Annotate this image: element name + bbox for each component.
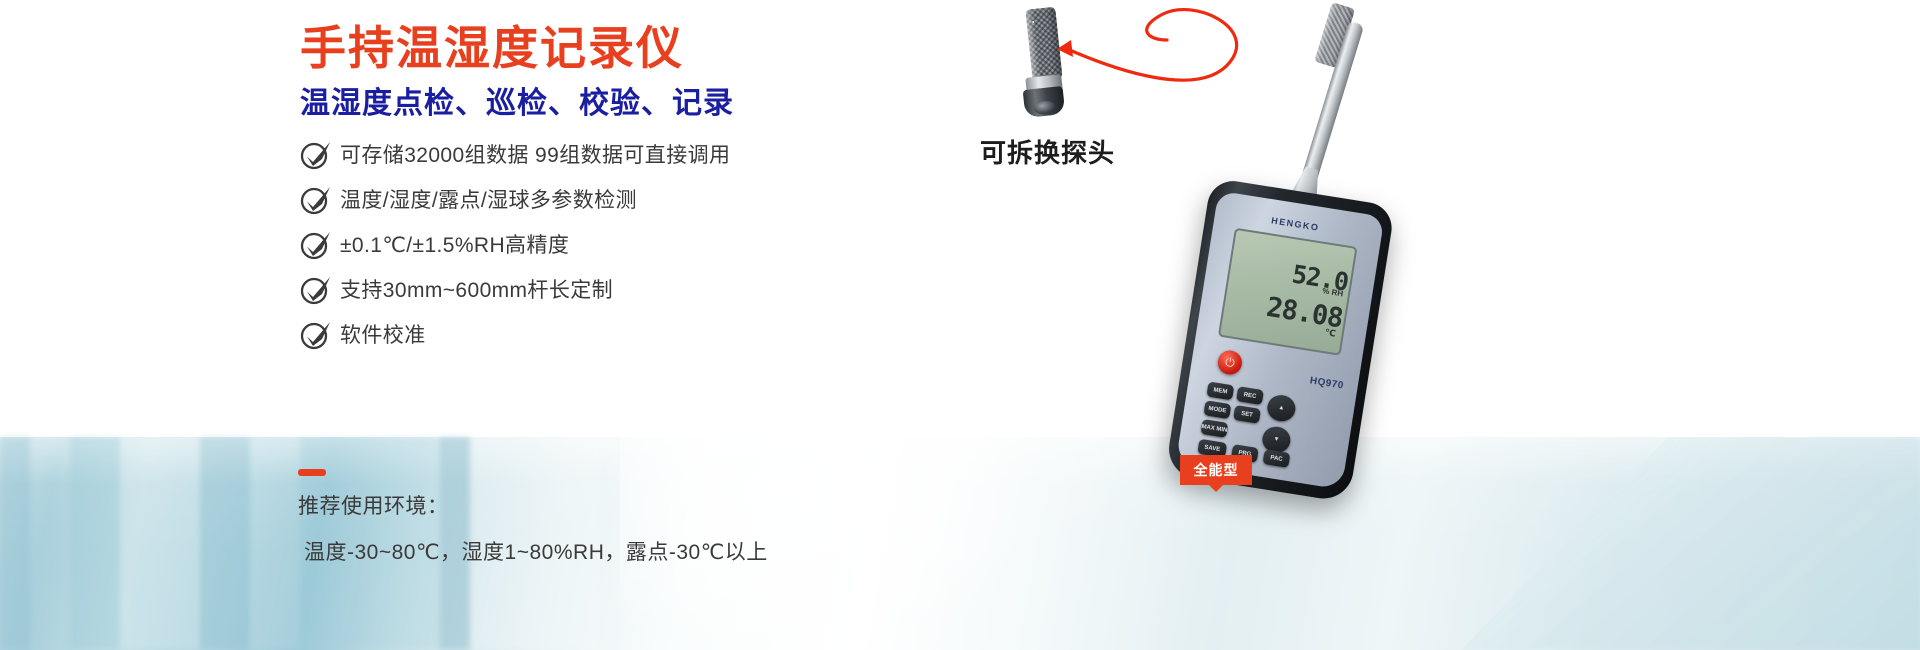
list-item: ±0.1℃/±1.5%RH高精度 xyxy=(300,221,1020,266)
list-item-label: 温度/湿度/露点/湿球多参数检测 xyxy=(340,184,637,214)
key-set[interactable]: SET xyxy=(1233,405,1261,424)
model-number-label: HQ970 xyxy=(1309,375,1344,391)
power-icon[interactable]: ⏻ xyxy=(1216,349,1243,376)
key-navigation-pad[interactable]: ▲ xyxy=(1266,393,1298,423)
check-circle-icon xyxy=(300,274,340,304)
feature-list: 可存储32000组数据 99组数据可直接调用 温度/湿度/露点/湿球多参数检测 … xyxy=(300,131,1020,356)
temperature-unit-label: ℃ xyxy=(1324,327,1336,340)
usage-note-heading: 推荐使用环境： xyxy=(298,490,449,520)
product-banner: 手持温湿度记录仪 温湿度点检、巡检、校验、记录 可存储32000组数据 99组数… xyxy=(0,0,1920,650)
list-item-label: ±0.1℃/±1.5%RH高精度 xyxy=(340,229,569,259)
meter-housing: HENGKO 52.0 % RH 28.08 ℃ ⏻ HQ970 MEM REC… xyxy=(1165,177,1396,502)
usage-note-detail: 温度-30~80℃，湿度1~80%RH，露点-30℃以上 xyxy=(304,536,768,566)
key-mem[interactable]: MEM xyxy=(1206,381,1234,400)
list-item: 温度/湿度/露点/湿球多参数检测 xyxy=(300,176,1020,221)
list-item-label: 支持30mm~600mm杆长定制 xyxy=(340,274,613,304)
list-item: 可存储32000组数据 99组数据可直接调用 xyxy=(300,131,1020,176)
list-item: 软件校准 xyxy=(300,311,1020,356)
check-circle-icon xyxy=(300,184,340,214)
check-circle-icon xyxy=(300,319,340,349)
list-item-label: 软件校准 xyxy=(340,319,426,349)
page-subtitle: 温湿度点检、巡检、校验、记录 xyxy=(300,78,734,122)
check-circle-icon xyxy=(300,229,340,259)
status-badge: 全能型 xyxy=(1180,455,1252,485)
product-image-meter: HENGKO 52.0 % RH 28.08 ℃ ⏻ HQ970 MEM REC… xyxy=(1080,0,1420,510)
humidity-unit-label: % RH xyxy=(1322,286,1344,298)
key-rec[interactable]: REC xyxy=(1236,386,1264,405)
check-circle-icon xyxy=(300,139,340,169)
list-item: 支持30mm~600mm杆长定制 xyxy=(300,266,1020,311)
meter-front-panel: HENGKO 52.0 % RH 28.08 ℃ ⏻ HQ970 MEM REC… xyxy=(1175,191,1384,490)
key-maxmin[interactable]: MAX MIN xyxy=(1200,419,1228,438)
note-dash-divider xyxy=(298,469,326,476)
page-title: 手持温湿度记录仪 xyxy=(300,12,684,78)
key-mode[interactable]: MODE xyxy=(1203,400,1231,419)
list-item-label: 可存储32000组数据 99组数据可直接调用 xyxy=(340,139,730,169)
key-pac[interactable]: PAC xyxy=(1262,449,1290,468)
lcd-display: 52.0 % RH 28.08 ℃ xyxy=(1218,228,1358,356)
